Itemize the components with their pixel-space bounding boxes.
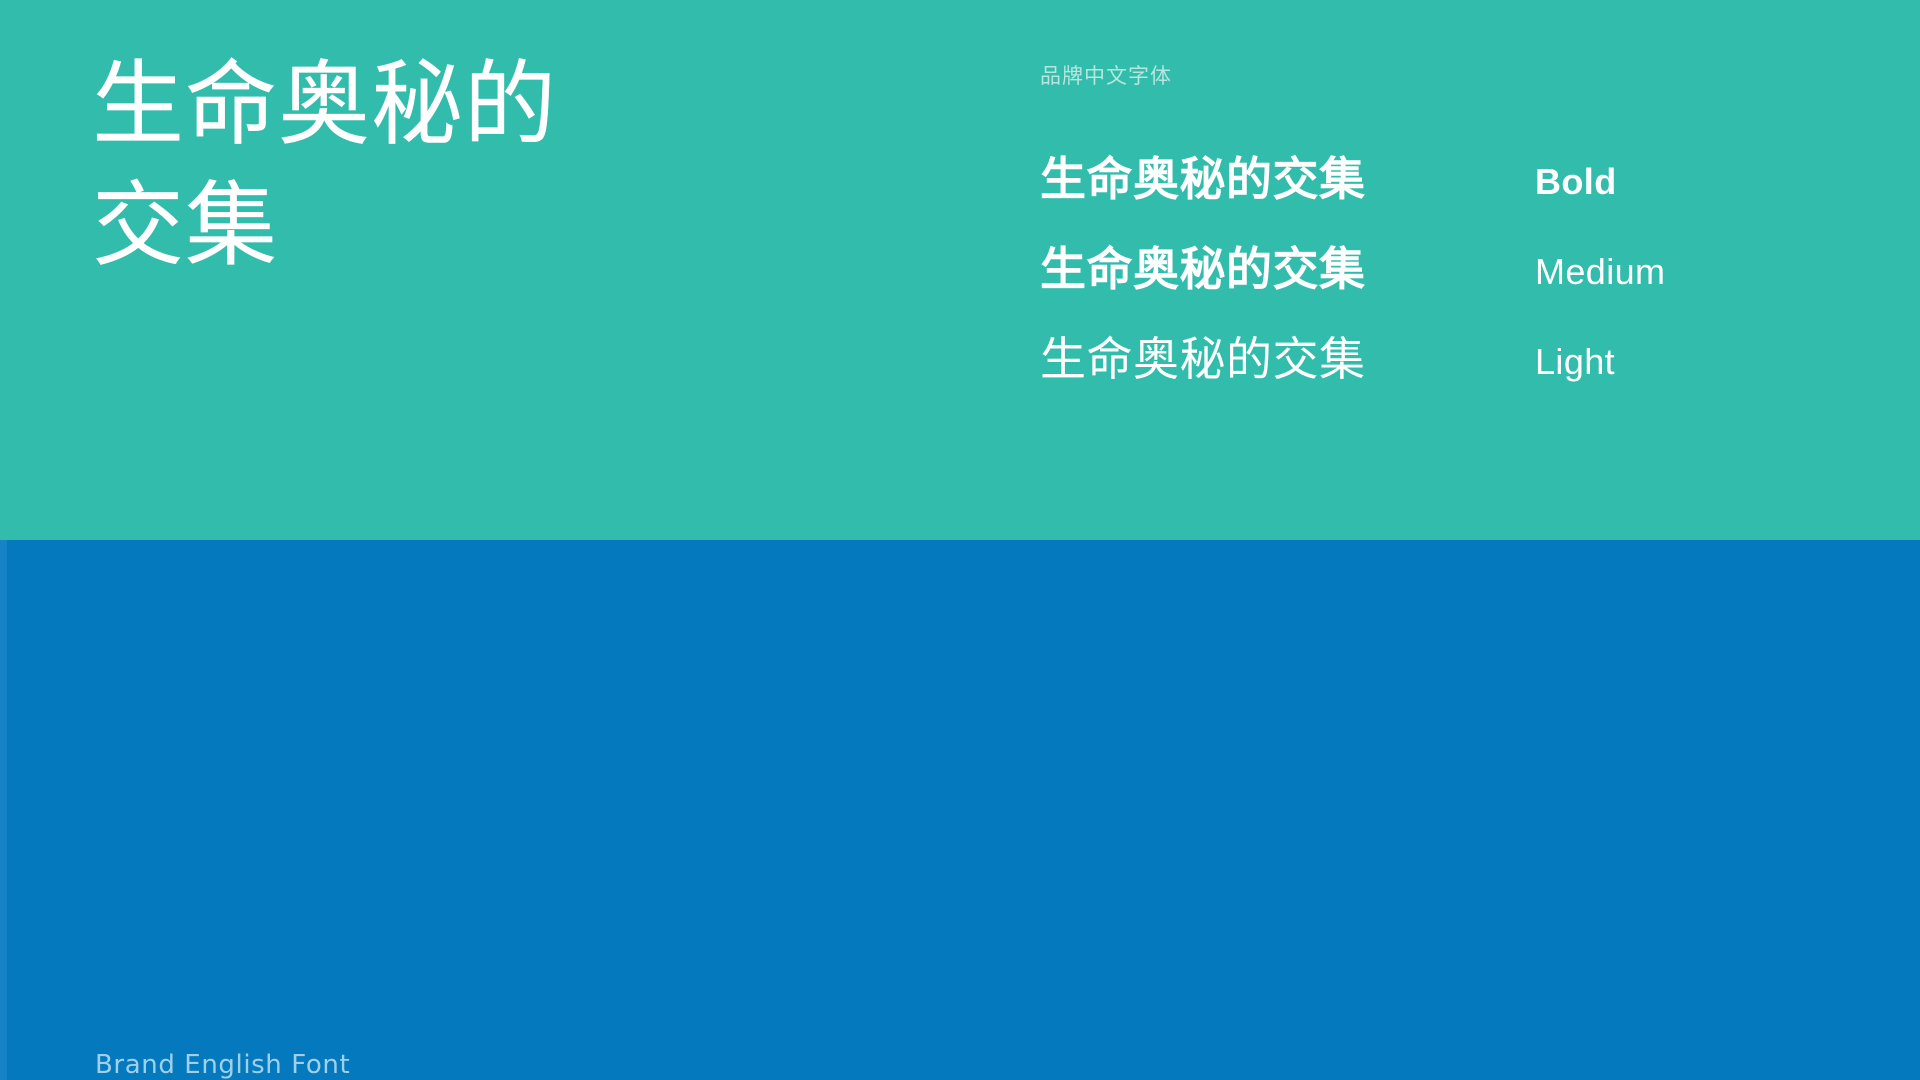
- english-section-label: Brand English Font: [95, 1052, 350, 1078]
- chinese-specimen-row-medium: 生命奥秘的交集 Medium: [1040, 202, 1860, 292]
- chinese-weight-label-medium: Medium: [1535, 254, 1665, 290]
- chinese-sample-light: 生命奥秘的交集: [1040, 336, 1366, 382]
- chinese-specimen-row-bold: 生命奥秘的交集 Bold: [1040, 112, 1860, 202]
- english-typography-panel: Brand English Font Mysteries of life Bol…: [0, 540, 1920, 1080]
- typography-specimen-board: 生命奥秘的 交集 品牌中文字体 生命奥秘的交集 Bold 生命奥秘的交集 Med…: [0, 0, 1920, 1080]
- chinese-display-headline: 生命奥秘的 交集: [92, 44, 792, 287]
- chinese-typography-panel: 生命奥秘的 交集 品牌中文字体 生命奥秘的交集 Bold 生命奥秘的交集 Med…: [0, 0, 1920, 540]
- chinese-weight-label-light: Light: [1535, 344, 1615, 380]
- chinese-sample-bold: 生命奥秘的交集: [1040, 156, 1366, 202]
- chinese-sample-medium: 生命奥秘的交集: [1040, 246, 1366, 292]
- chinese-specimen-row-light: 生命奥秘的交集 Light: [1040, 292, 1860, 382]
- chinese-specimen-group: 品牌中文字体 生命奥秘的交集 Bold 生命奥秘的交集 Medium 生命奥秘的…: [1040, 66, 1860, 87]
- chinese-weight-label-bold: Bold: [1535, 164, 1617, 200]
- chinese-section-label: 品牌中文字体: [1040, 66, 1860, 87]
